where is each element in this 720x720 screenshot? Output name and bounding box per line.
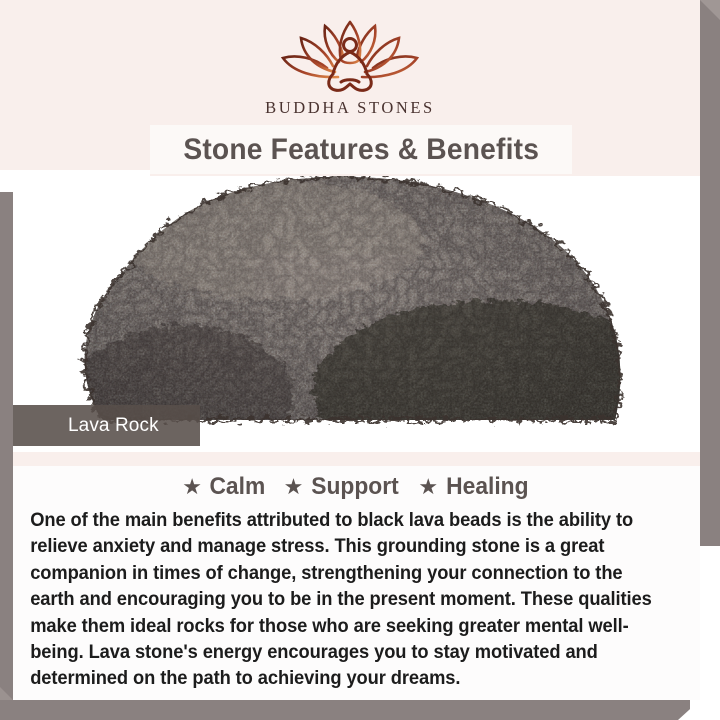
benefit-label: Support bbox=[312, 473, 399, 501]
benefit-item: ★ Healing bbox=[418, 473, 530, 501]
infographic-canvas: BUDDHA STONES Stone Features & Benefits bbox=[0, 0, 720, 720]
frame-corner-bottom-right bbox=[678, 700, 700, 720]
page-title: Stone Features & Benefits bbox=[183, 133, 539, 167]
frame-band-right bbox=[700, 0, 720, 546]
benefit-label: Calm bbox=[209, 473, 265, 501]
benefit-item: ★ Support bbox=[284, 473, 402, 501]
frame-band-bottom bbox=[0, 700, 690, 720]
brand-logo-block: BUDDHA STONES bbox=[0, 14, 700, 118]
star-icon: ★ bbox=[284, 476, 304, 498]
title-banner: Stone Features & Benefits bbox=[150, 125, 572, 174]
benefit-label: Healing bbox=[446, 473, 528, 501]
frame-corner-bottom-left bbox=[0, 687, 13, 700]
star-icon: ★ bbox=[418, 476, 438, 498]
frame-band-left bbox=[0, 188, 13, 702]
body-description: One of the main benefits attributed to b… bbox=[13, 504, 669, 693]
lotus-meditation-icon bbox=[275, 14, 425, 96]
frame-corner-top-right bbox=[700, 0, 720, 20]
separator-strip bbox=[13, 452, 700, 466]
stone-photo-area: Lava Rock bbox=[13, 176, 700, 452]
benefit-item: ★ Calm bbox=[182, 473, 266, 501]
brand-name: BUDDHA STONES bbox=[0, 98, 700, 118]
star-icon: ★ bbox=[182, 476, 202, 498]
benefits-row: ★ Calm ★ Support ★ Healing bbox=[13, 466, 700, 504]
content-card: ★ Calm ★ Support ★ Healing One of the ma… bbox=[13, 466, 700, 700]
photo-caption-label: Lava Rock bbox=[13, 415, 159, 437]
photo-caption-bar: Lava Rock bbox=[13, 405, 200, 446]
